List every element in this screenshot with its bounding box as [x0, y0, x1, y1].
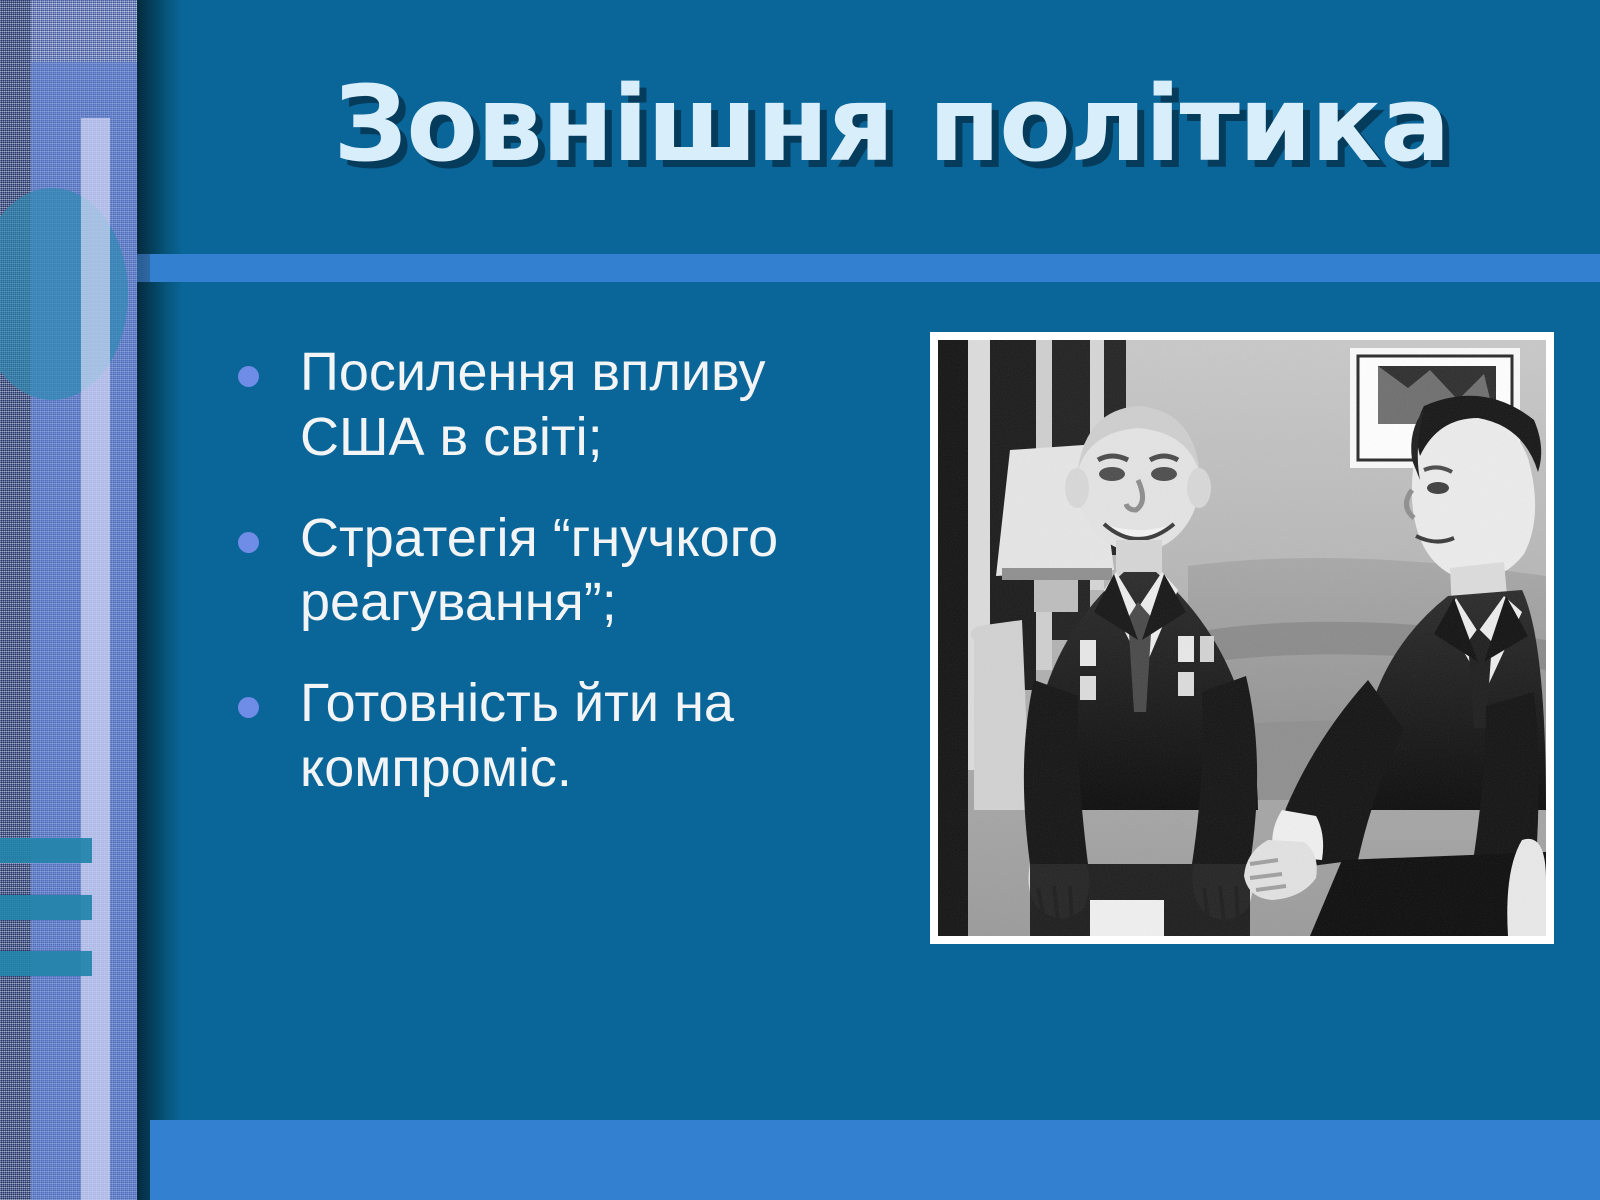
bullet-list: Посилення впливу США в світі; Стратегія … [222, 340, 882, 801]
title-area: Зовнішня політика [183, 0, 1600, 255]
top-accent-band [150, 254, 1600, 282]
sidebar-accent-bar-3 [0, 951, 92, 976]
slide-body: Посилення впливу США в світі; Стратегія … [222, 340, 882, 801]
photo-frame [930, 332, 1554, 944]
sidebar-accent-bar-2 [0, 895, 92, 920]
bottom-accent-band [150, 1120, 1600, 1200]
bullet-text-2: Стратегія “гнучкого реагування”; [300, 508, 778, 633]
sidebar-gradient-edge [137, 0, 182, 1200]
khrushchev-kennedy-meeting-photo [938, 340, 1546, 936]
bullet-text-3: Готовність йти на компроміс. [300, 673, 734, 798]
sidebar-accent-bar-1 [0, 838, 92, 863]
sidebar-light-stripe [81, 118, 110, 1200]
bullet-dot-icon [238, 366, 259, 387]
bullet-dot-icon [238, 532, 259, 553]
bullet-item-1: Посилення впливу США в світі; [222, 340, 882, 470]
presentation-slide: Зовнішня політика Посилення впливу США в… [0, 0, 1600, 1200]
sidebar-dark-strip [0, 0, 31, 1200]
slide-title: Зовнішня політика [183, 72, 1600, 176]
slide-decorative-sidebar [0, 0, 182, 1200]
bullet-item-2: Стратегія “гнучкого реагування”; [222, 506, 882, 636]
bullet-text-1: Посилення впливу США в світі; [300, 342, 766, 467]
bullet-item-3: Готовність йти на компроміс. [222, 671, 882, 801]
bullet-dot-icon [238, 697, 259, 718]
